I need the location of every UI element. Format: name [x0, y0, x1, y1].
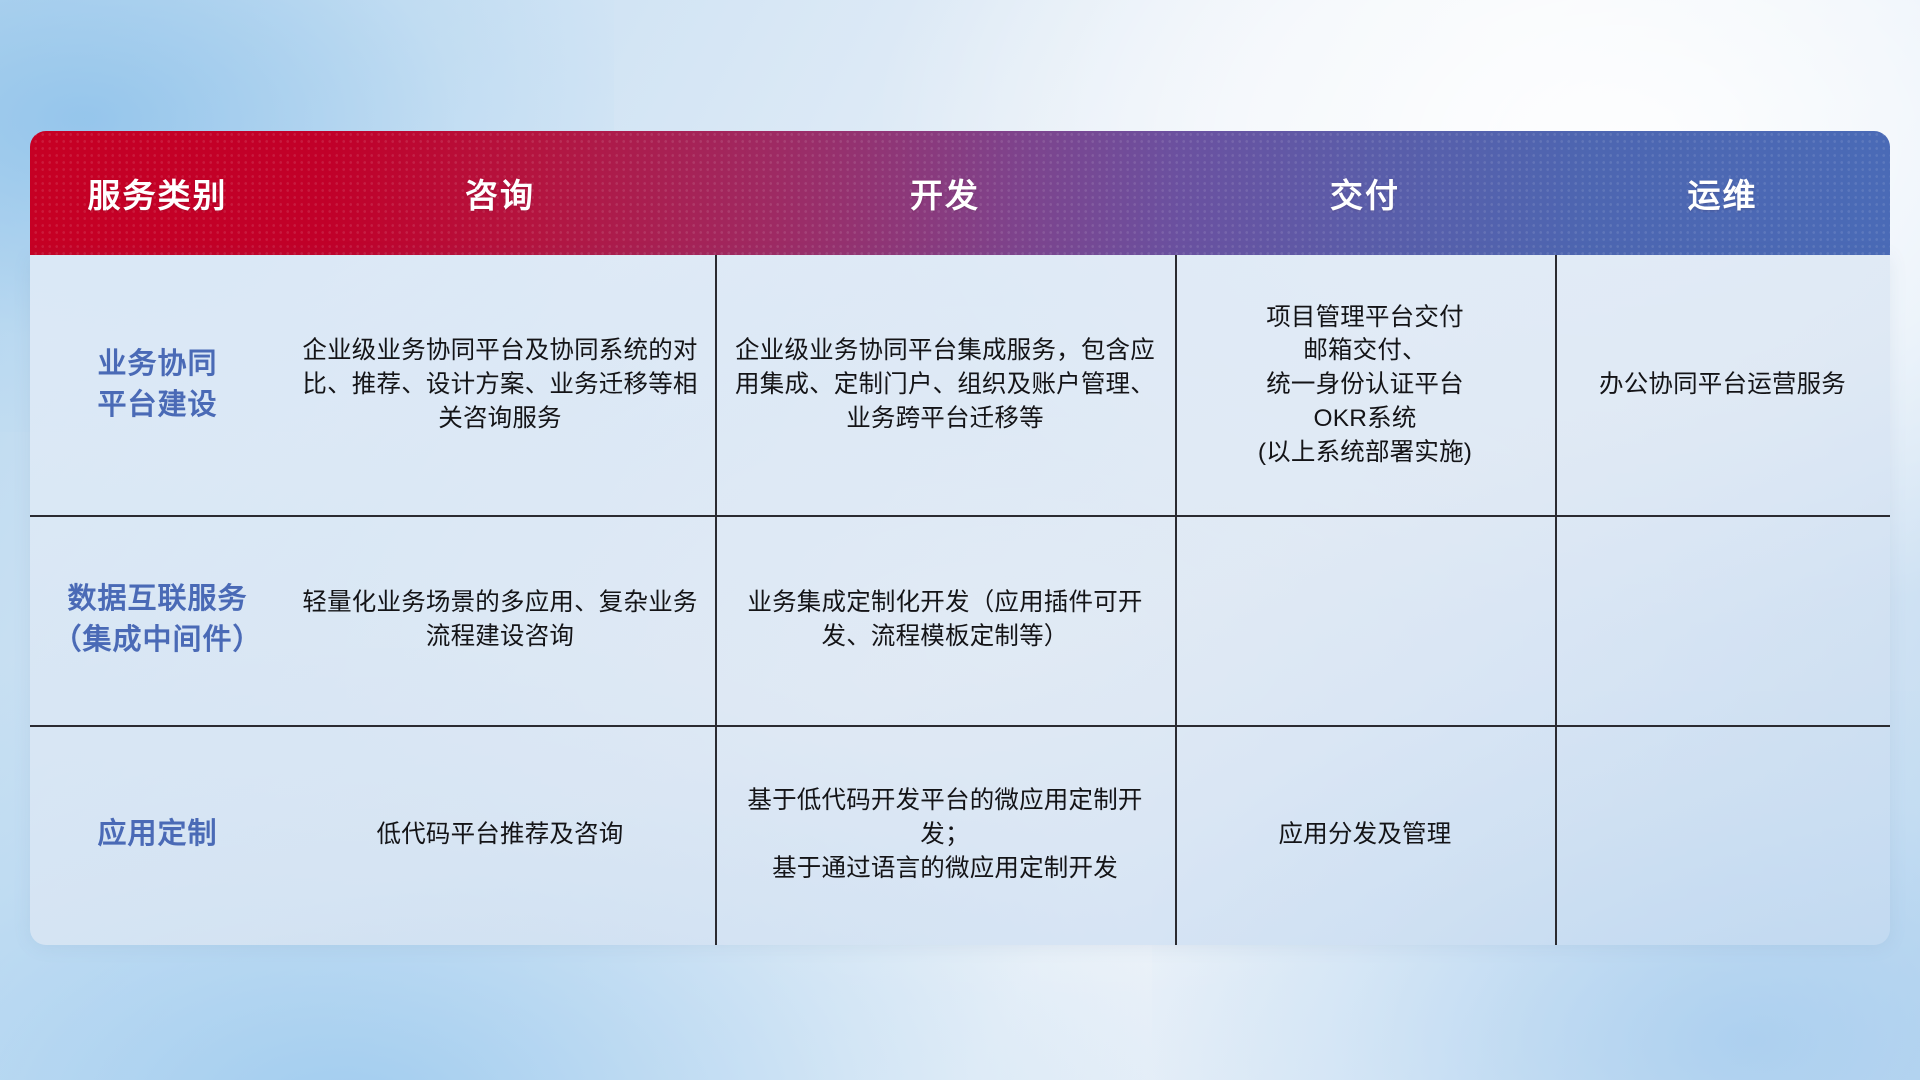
table-header-row: 服务类别 咨询 开发 交付 运维 [30, 131, 1890, 255]
cell-development: 企业级业务协同平台集成服务，包含应用集成、定制门户、组织及账户管理、业务跨平台迁… [715, 255, 1175, 515]
header-service-category[interactable]: 服务类别 [30, 131, 285, 255]
row-category-label: 业务协同平台建设 [30, 255, 285, 515]
cell-consulting: 轻量化业务场景的多应用、复杂业务流程建设咨询 [285, 515, 715, 725]
cell-operations [1555, 515, 1890, 725]
cell-operations: 办公协同平台运营服务 [1555, 255, 1890, 515]
cell-operations [1555, 725, 1890, 945]
column-divider-development-delivery [1175, 255, 1177, 945]
cell-consulting: 企业级业务协同平台及协同系统的对比、推荐、设计方案、业务迁移等相关咨询服务 [285, 255, 715, 515]
header-delivery[interactable]: 交付 [1175, 131, 1555, 255]
table-row: 应用定制 低代码平台推荐及咨询 基于低代码开发平台的微应用定制开发；基于通过语言… [30, 725, 1890, 945]
table: 服务类别 咨询 开发 交付 运维 业务协同平台建设 企业级业务协同平台及协同系统… [30, 131, 1890, 945]
header-development[interactable]: 开发 [715, 131, 1175, 255]
cell-delivery: 项目管理平台交付邮箱交付、统一身份认证平台OKR系统(以上系统部署实施) [1175, 255, 1555, 515]
row-divider-1-2 [30, 515, 1890, 517]
cell-development: 基于低代码开发平台的微应用定制开发；基于通过语言的微应用定制开发 [715, 725, 1175, 945]
cell-delivery [1175, 515, 1555, 725]
table-row: 数据互联服务（集成中间件） 轻量化业务场景的多应用、复杂业务流程建设咨询 业务集… [30, 515, 1890, 725]
row-category-label: 数据互联服务（集成中间件） [30, 515, 285, 725]
column-divider-consulting-development [715, 255, 717, 945]
service-matrix-table: 服务类别 咨询 开发 交付 运维 业务协同平台建设 企业级业务协同平台及协同系统… [30, 131, 1890, 945]
table-head: 服务类别 咨询 开发 交付 运维 [30, 131, 1890, 255]
row-divider-2-3 [30, 725, 1890, 727]
table-row: 业务协同平台建设 企业级业务协同平台及协同系统的对比、推荐、设计方案、业务迁移等… [30, 255, 1890, 515]
cell-consulting: 低代码平台推荐及咨询 [285, 725, 715, 945]
cell-delivery: 应用分发及管理 [1175, 725, 1555, 945]
table-body: 业务协同平台建设 企业级业务协同平台及协同系统的对比、推荐、设计方案、业务迁移等… [30, 255, 1890, 945]
cell-development: 业务集成定制化开发（应用插件可开发、流程模板定制等） [715, 515, 1175, 725]
column-divider-delivery-operations [1555, 255, 1557, 945]
row-category-label: 应用定制 [30, 725, 285, 945]
header-consulting[interactable]: 咨询 [285, 131, 715, 255]
header-operations[interactable]: 运维 [1555, 131, 1890, 255]
